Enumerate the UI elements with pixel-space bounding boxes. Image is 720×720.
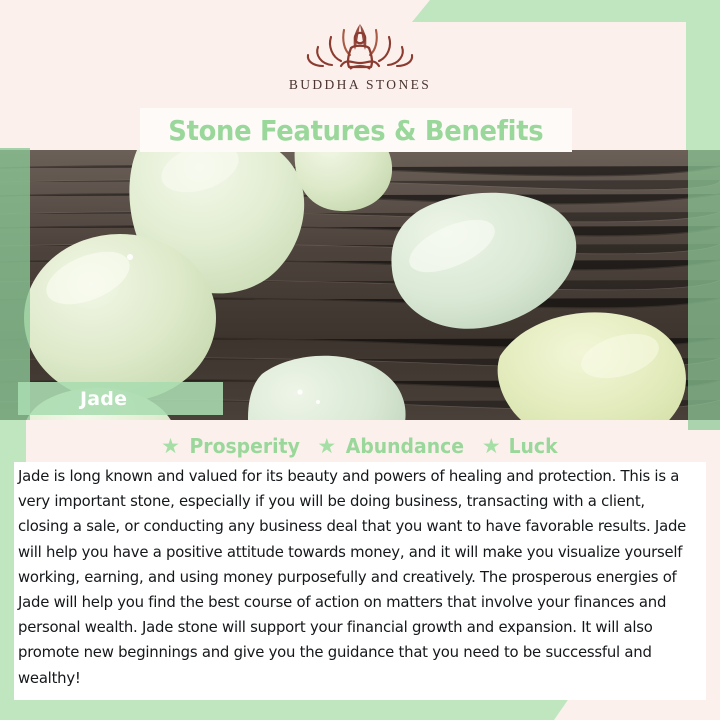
stone-photo [0,150,720,420]
benefit-label: Prosperity [189,434,299,458]
benefit-luck: ★ Luck [482,434,559,458]
brand-logo: BUDDHA STONES [0,14,720,106]
benefits-row: ★ Prosperity ★ Abundance ★ Luck [0,430,720,462]
benefit-abundance: ★ Abundance [317,434,468,458]
stone-info-card: BUDDHA STONES Stone Features & Benefits [0,0,720,720]
star-icon: ★ [161,436,180,457]
stone-photo-illustration [0,150,720,420]
benefit-label: Abundance [346,434,464,458]
page-title: Stone Features & Benefits [168,114,543,147]
benefit-prosperity: ★ Prosperity [161,434,303,458]
brand-name: BUDDHA STONES [289,77,431,93]
description-panel: Jade is long known and valued for its be… [14,462,706,700]
benefit-label: Luck [508,434,557,458]
title-banner: Stone Features & Benefits [140,108,572,152]
star-icon: ★ [317,436,336,457]
stone-name: Jade [80,388,127,410]
description-text: Jade is long known and valued for its be… [18,464,690,691]
stone-name-banner: Jade [18,382,223,415]
lotus-meditation-icon [294,14,426,76]
decorative-strip-left [0,148,30,420]
star-icon: ★ [482,436,501,457]
decorative-strip-right [688,150,720,430]
